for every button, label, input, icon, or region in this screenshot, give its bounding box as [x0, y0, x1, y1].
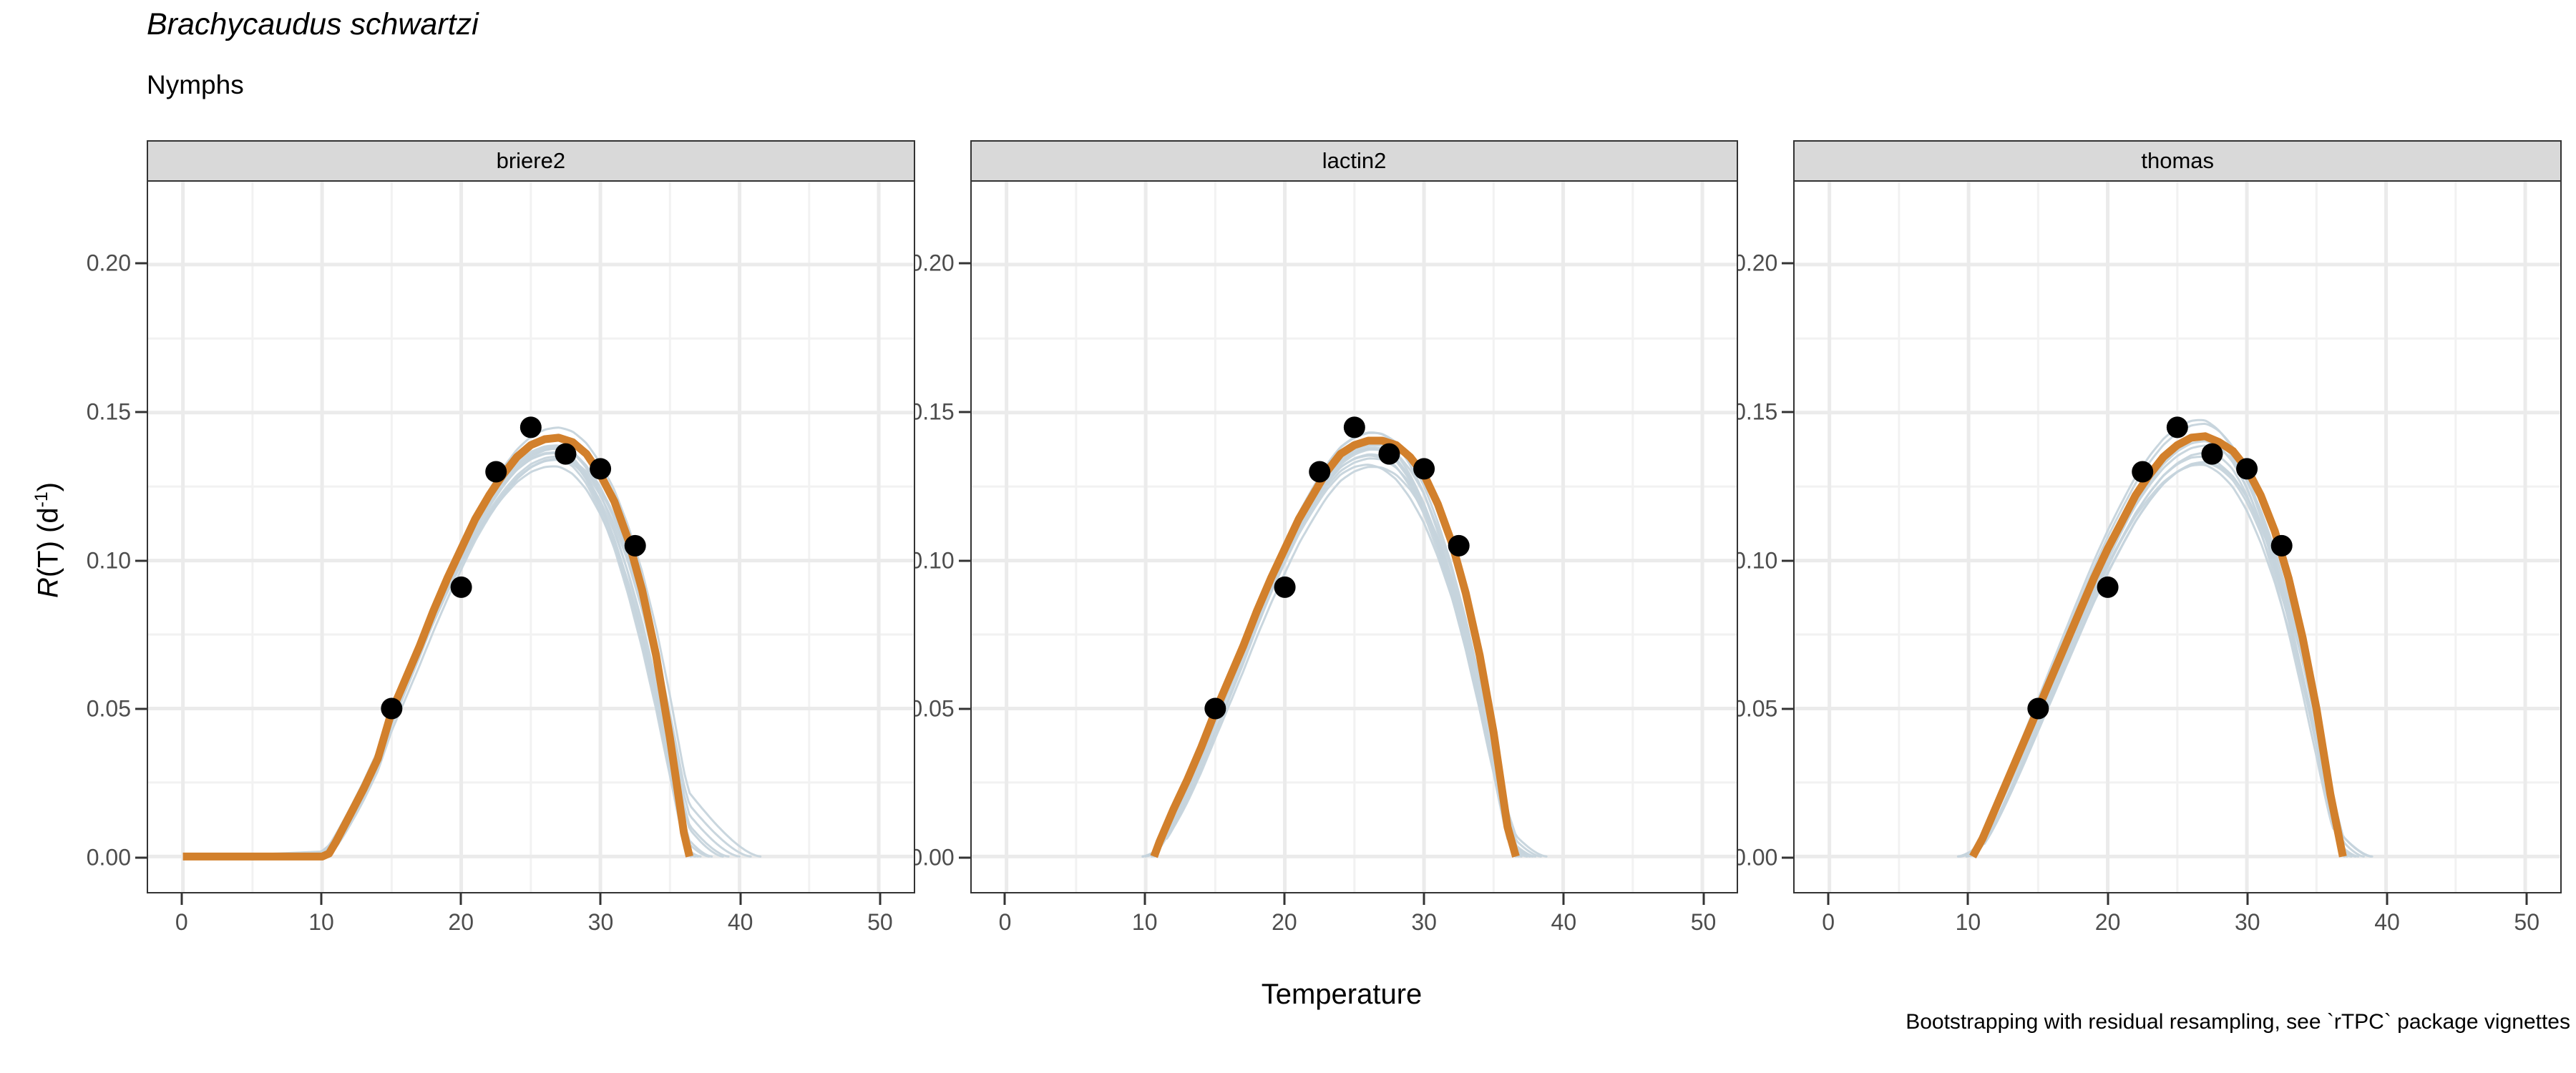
y-axis-title: R(T) (d-1) — [20, 154, 64, 926]
page-subtitle: Nymphs — [147, 70, 244, 100]
plot-caption: Bootstrapping with residual resampling, … — [1906, 1010, 2570, 1034]
page-title: Brachycaudus schwartzi — [147, 7, 479, 42]
y-tick-mark — [135, 857, 147, 859]
y-tick-label: 0.20 — [87, 250, 131, 277]
panel-wrapper — [1793, 180, 2562, 927]
facet-strip-label: thomas — [1793, 140, 2562, 180]
facet-panel: lactin2 — [970, 140, 1739, 927]
facet-panel: thomas — [1793, 140, 2562, 927]
y-tick-mark — [135, 263, 147, 265]
x-axis-title: Temperature — [0, 979, 2576, 1011]
plot-panel[interactable] — [970, 180, 1739, 893]
y-axis-title-close: ) — [32, 482, 64, 491]
y-axis-title-superscript: -1 — [32, 491, 52, 507]
facet-grid: briere2 lactin2 thomas — [147, 140, 2562, 927]
y-tick-label: 0.00 — [87, 845, 131, 871]
plot-panel[interactable] — [1793, 180, 2562, 893]
panel-wrapper — [970, 180, 1739, 927]
panel-wrapper — [147, 180, 915, 927]
y-tick-mark — [135, 411, 147, 413]
y-tick-label: 0.10 — [87, 547, 131, 574]
y-tick-mark — [135, 708, 147, 710]
facet-strip-label: briere2 — [147, 140, 915, 180]
y-tick-label: 0.05 — [87, 696, 131, 722]
plot-panel[interactable] — [147, 180, 915, 893]
y-tick-label: 0.15 — [87, 399, 131, 426]
y-axis-title-symbol: R — [32, 577, 64, 598]
facet-strip-label: lactin2 — [970, 140, 1739, 180]
y-tick-mark — [135, 559, 147, 562]
facet-panel: briere2 — [147, 140, 915, 927]
y-axis-title-rest: (T) (d — [32, 507, 64, 577]
